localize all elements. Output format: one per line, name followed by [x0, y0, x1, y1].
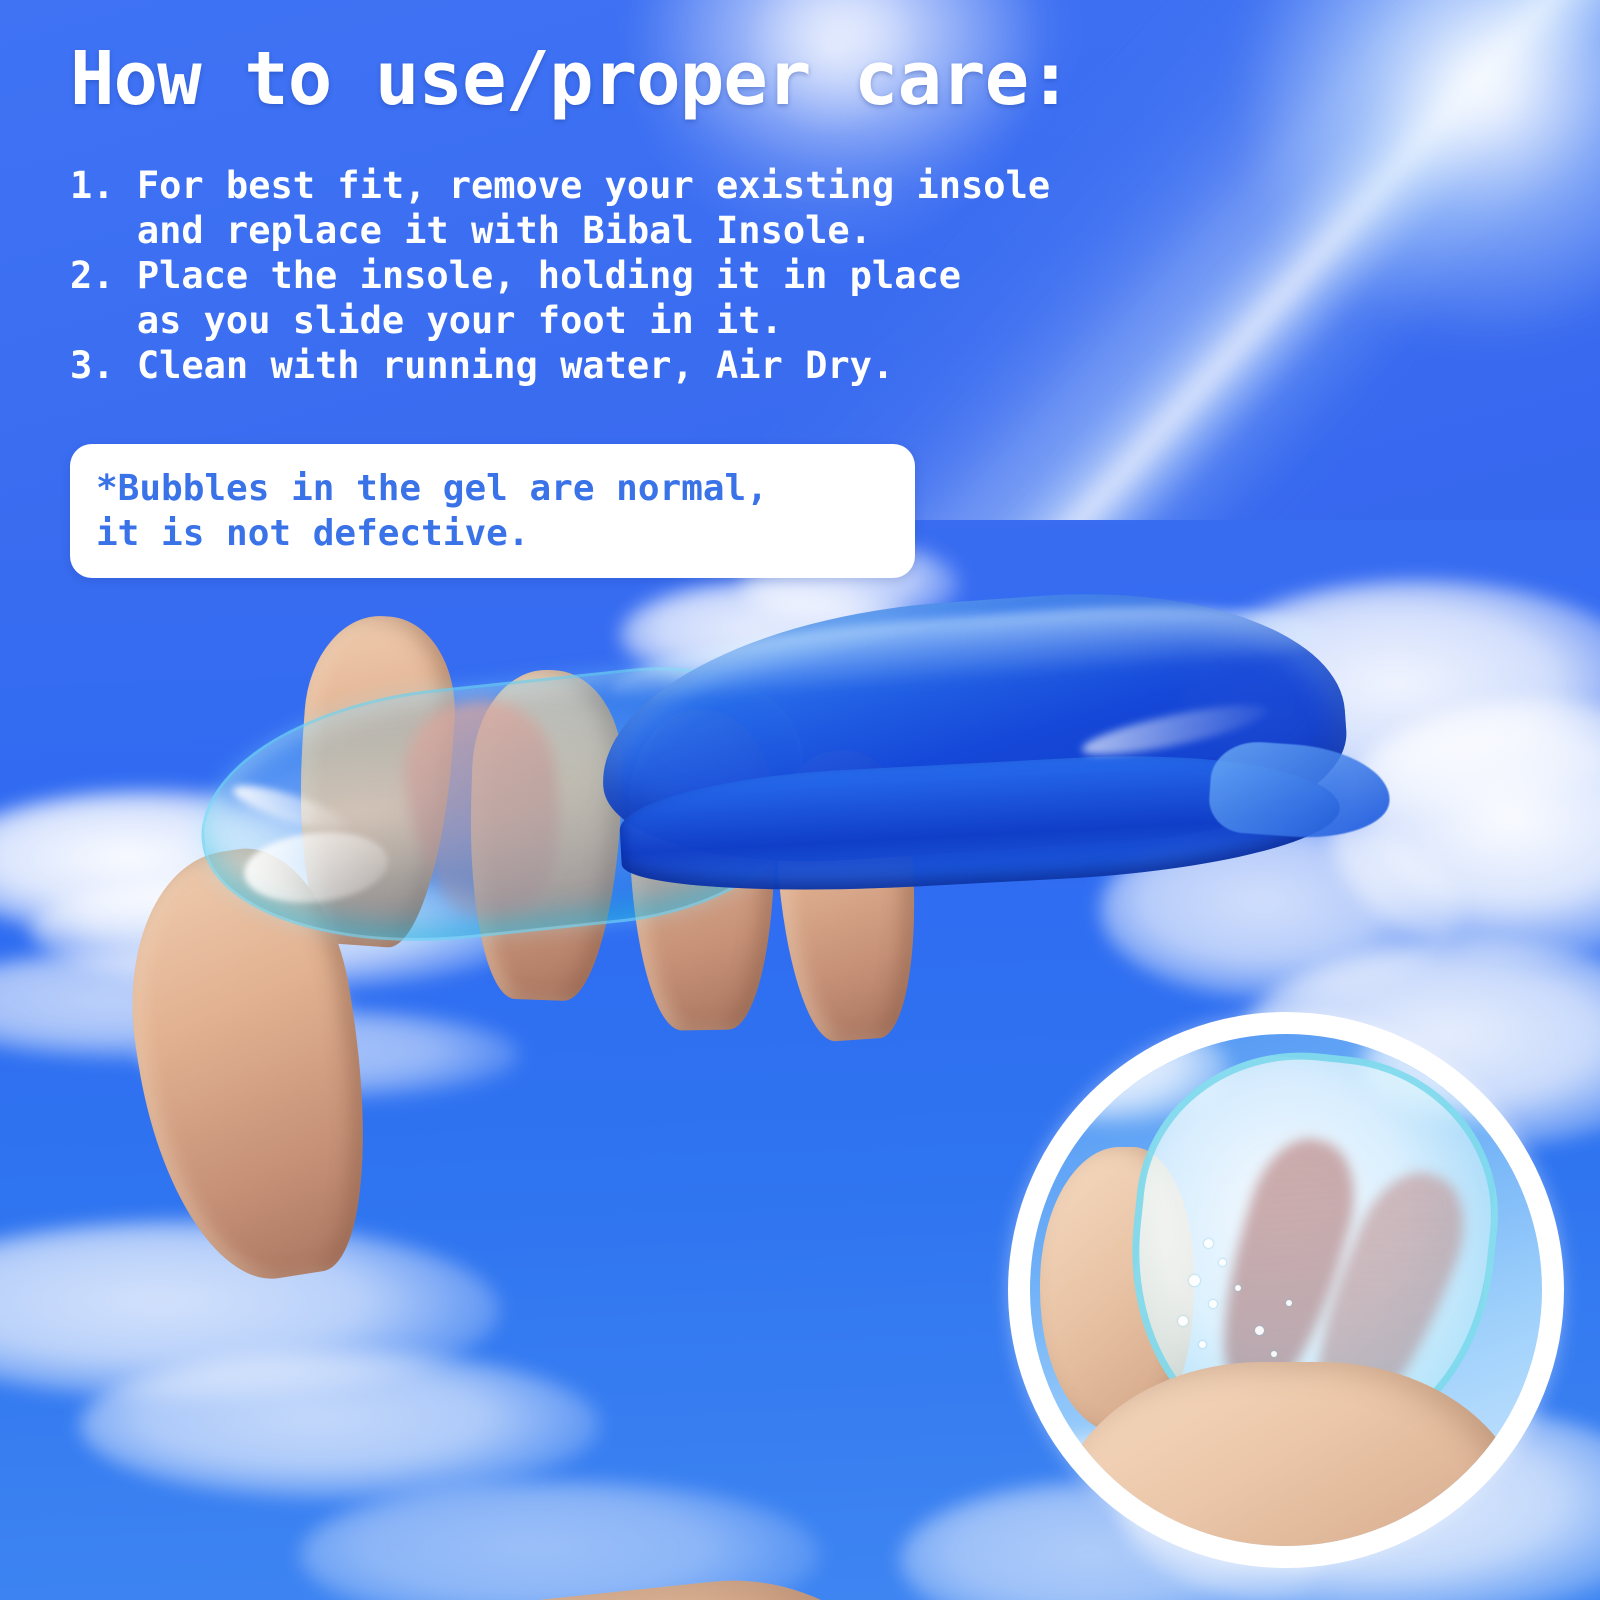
list-item: 1. For best fit, remove your existing in…: [70, 163, 1050, 208]
gel-bubble: [1189, 1275, 1200, 1286]
closeup-inset-circle: [1008, 1012, 1564, 1568]
list-item-continuation: and replace it with Bibal Insole.: [70, 208, 1050, 253]
gel-insole: [200, 595, 1340, 940]
infographic-page: How to use/proper care: 1. For best fit,…: [0, 0, 1600, 1600]
list-item: 2. Place the insole, holding it in place: [70, 253, 1050, 298]
gel-bubble: [1204, 1239, 1213, 1248]
bubbles-note-callout: *Bubbles in the gel are normal, it is no…: [70, 444, 915, 578]
page-title: How to use/proper care:: [70, 42, 1072, 116]
list-item: 3. Clean with running water, Air Dry.: [70, 343, 1050, 388]
note-line-1: *Bubbles in the gel are normal,: [96, 466, 915, 511]
note-line-2: it is not defective.: [96, 511, 915, 556]
instructions-list: 1. For best fit, remove your existing in…: [70, 163, 1050, 388]
gel-bubble: [1235, 1285, 1241, 1291]
inset-photo: [1030, 1034, 1542, 1546]
list-item-continuation: as you slide your foot in it.: [70, 298, 1050, 343]
